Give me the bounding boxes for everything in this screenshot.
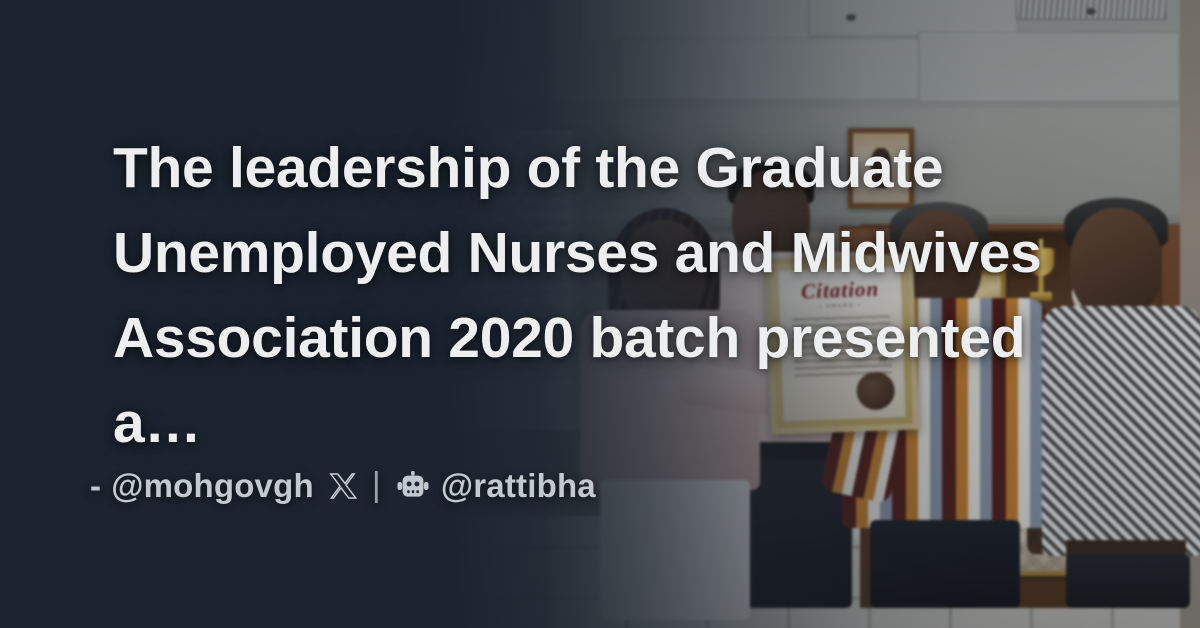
attribution-line: - @mohgovgh |: [90, 466, 596, 505]
social-preview-card: Citation • AWARD • ” The leadership of t…: [0, 0, 1200, 628]
author-handle[interactable]: @mohgovgh: [111, 467, 314, 505]
robot-icon: [397, 471, 429, 501]
separator: |: [372, 466, 381, 505]
service-handle[interactable]: @rattibha: [441, 467, 596, 505]
card-title: The leadership of the Graduate Unemploye…: [113, 126, 1123, 466]
title-line-1: The leadership of the Graduate: [113, 136, 943, 200]
card-content: The leadership of the Graduate Unemploye…: [0, 0, 1200, 628]
x-twitter-icon[interactable]: [328, 471, 358, 501]
title-line-2: Unemployed Nurses and Midwives: [113, 221, 1042, 285]
title-line-3: Association 2020 batch presented a…: [113, 306, 1025, 455]
attribution-dash: -: [90, 467, 101, 505]
